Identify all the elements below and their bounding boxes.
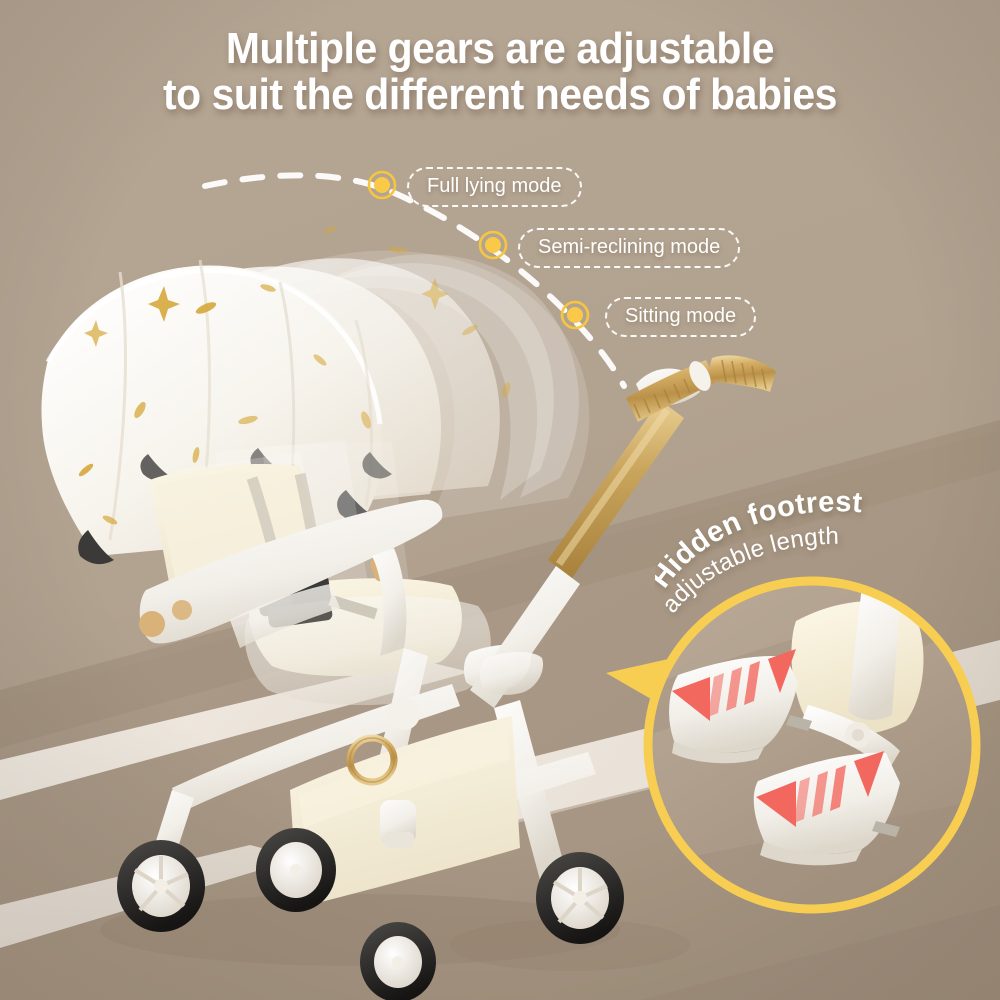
mode-label-full-lying[interactable]: Full lying mode <box>407 167 582 207</box>
mode-dot-full-lying[interactable] <box>367 170 397 200</box>
mode-label-sitting[interactable]: Sitting mode <box>605 297 756 337</box>
headline-line-2: to suit the different needs of babies <box>35 72 965 118</box>
page-title: Multiple gears are adjustable to suit th… <box>35 26 965 118</box>
mode-dot-semi-reclining[interactable] <box>478 230 508 260</box>
footrest-detail-inset[interactable] <box>600 565 1000 925</box>
marketing-image-canvas: Multiple gears are adjustable to suit th… <box>0 0 1000 1000</box>
mode-label-semi-reclining[interactable]: Semi-reclining mode <box>518 228 740 268</box>
headline-line-1: Multiple gears are adjustable <box>226 24 774 73</box>
mode-dot-sitting[interactable] <box>560 300 590 330</box>
